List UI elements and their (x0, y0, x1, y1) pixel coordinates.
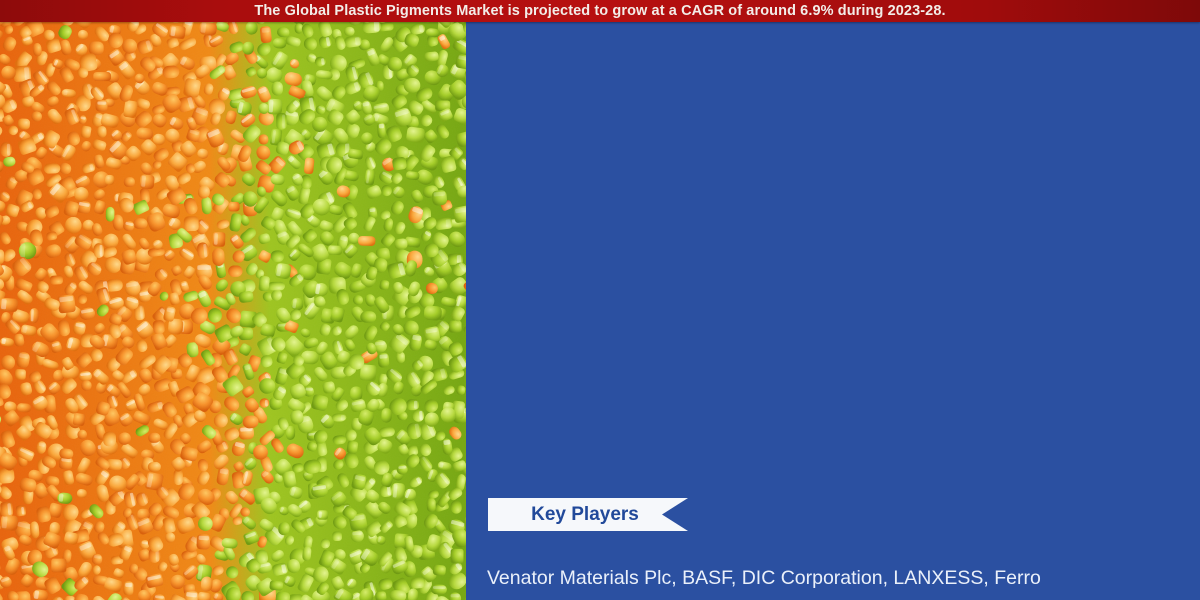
key-players-ribbon: Key Players (488, 498, 688, 531)
header-banner-text: The Global Plastic Pigments Market is pr… (254, 4, 945, 19)
header-banner: The Global Plastic Pigments Market is pr… (0, 0, 1200, 22)
infographic-page: The Global Plastic Pigments Market is pr… (0, 0, 1200, 600)
pellets-illustration (0, 21, 466, 600)
key-players-label: Key Players (488, 498, 688, 531)
key-players-list: Venator Materials Plc, BASF, DIC Corpora… (487, 565, 1187, 591)
plastic-pellets-photo (0, 21, 466, 600)
